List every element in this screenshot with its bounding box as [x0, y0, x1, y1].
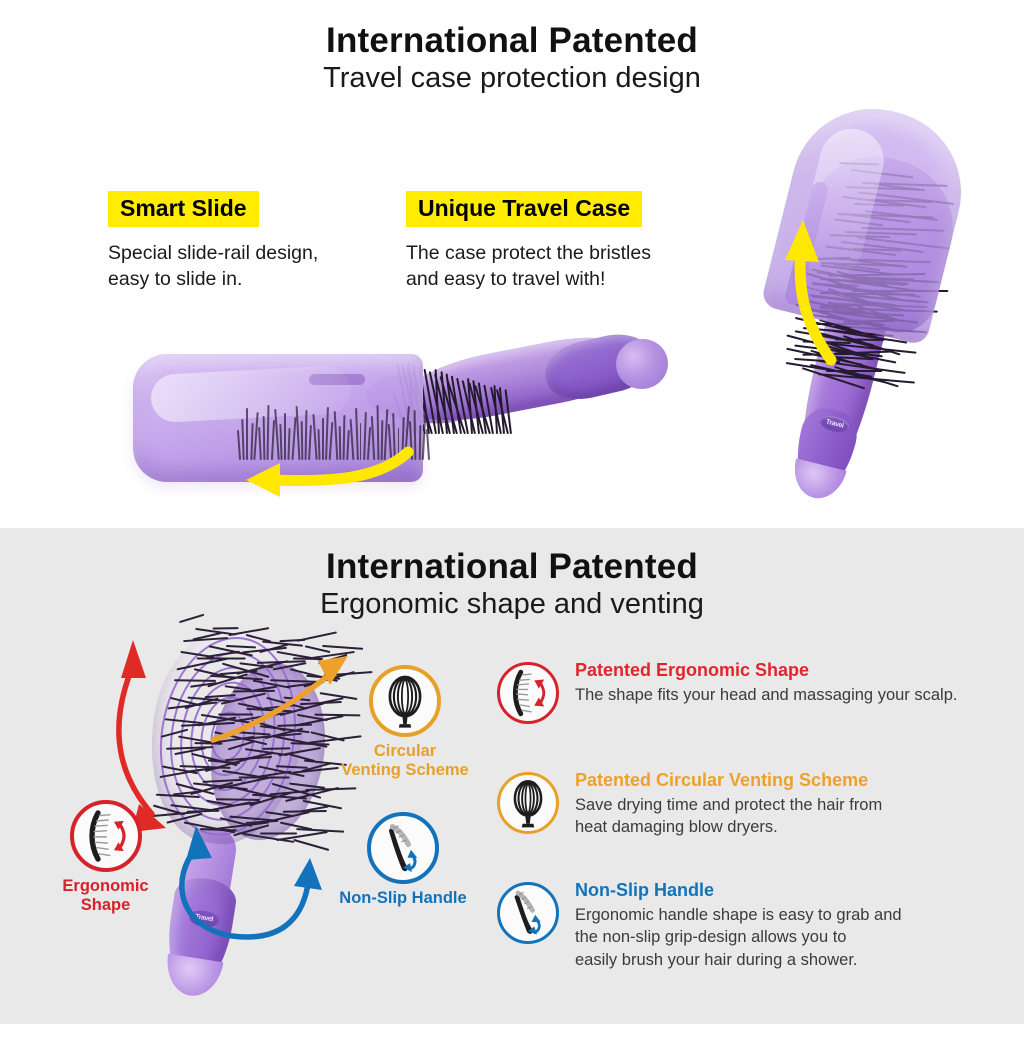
feature-title: Patented Ergonomic Shape: [575, 660, 1012, 682]
product-brush-inside-case-vertical: Travel: [735, 100, 975, 510]
feature-patented-circular-venting-scheme: Patented Circular Venting Scheme Save dr…: [497, 770, 1012, 862]
feature-patented-ergonomic-shape: Patented Ergonomic Shape The shape fits …: [497, 660, 1012, 752]
oval-venting-rings-icon: [497, 772, 559, 834]
top-section: International Patented Travel case prote…: [0, 0, 1024, 528]
tag-smart-slide: Smart Slide: [108, 191, 259, 227]
top-subheading: Travel case protection design: [0, 63, 1024, 95]
curved-handle-icon: [367, 812, 439, 884]
callout-non-slip-handle-label: Non-Slip Handle: [318, 889, 488, 908]
tag-unique-travel-case-body: The case protect the bristles and easy t…: [406, 241, 726, 292]
feature-body: Save drying time and protect the hair fr…: [575, 794, 1012, 840]
tag-unique-travel-case: Unique Travel Case: [406, 191, 642, 227]
callout-circular-venting-scheme-label: Circular Venting Scheme: [330, 742, 480, 780]
curved-comb-profile-icon: [70, 800, 142, 872]
oval-venting-rings-icon: [369, 665, 441, 737]
brush-bristles-in-case: [236, 382, 432, 460]
callout-non-slip-handle: Non-Slip Handle: [318, 812, 488, 908]
feature-body: Ergonomic handle shape is easy to grab a…: [575, 904, 1012, 972]
product-brush-sliding-into-case: [130, 330, 675, 510]
feature-body: The shape fits your head and massaging y…: [575, 684, 1012, 707]
travel-case-rail: [783, 180, 829, 306]
callout-ergonomic-shape-label: Ergonomic Shape: [38, 877, 173, 915]
callout-circular-venting-scheme: Circular Venting Scheme: [330, 665, 480, 780]
feature-title: Non-Slip Handle: [575, 880, 1012, 902]
tag-smart-slide-body: Special slide-rail design, easy to slide…: [108, 241, 388, 292]
bottom-heading: International Patented: [0, 548, 1024, 585]
feature-non-slip-handle: Non-Slip Handle Ergonomic handle shape i…: [497, 880, 1012, 972]
curved-comb-profile-icon: [497, 662, 559, 724]
top-heading: International Patented: [0, 22, 1024, 59]
callout-ergonomic-shape: Ergonomic Shape: [38, 800, 173, 915]
diagram-brush-grip-tip: [162, 954, 223, 1000]
feature-list: Patented Ergonomic Shape The shape fits …: [497, 660, 1012, 990]
infographic-page: International Patented Travel case prote…: [0, 0, 1024, 1024]
curved-handle-icon: [497, 882, 559, 944]
feature-title: Patented Circular Venting Scheme: [575, 770, 1012, 792]
